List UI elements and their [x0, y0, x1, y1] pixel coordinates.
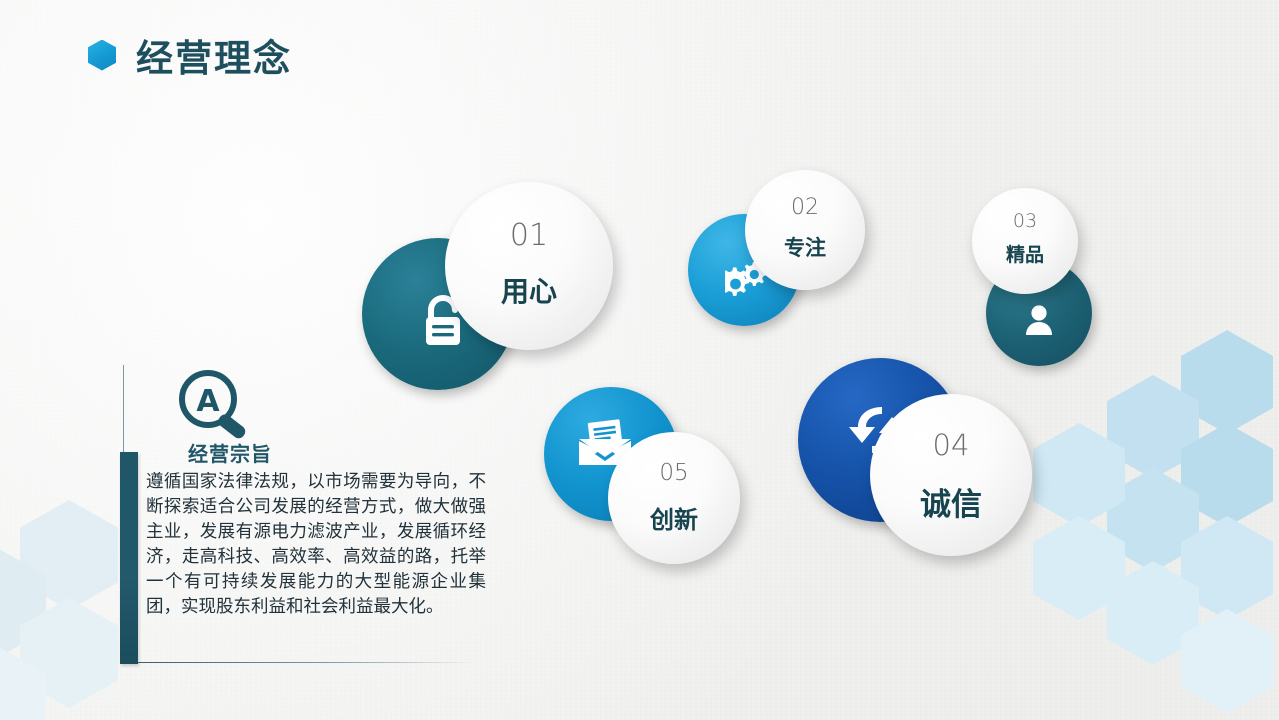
hexagon-shape [1181, 423, 1273, 527]
item-label-circle-01[interactable]: 01 用心 [445, 182, 613, 350]
hexagon-shape [1107, 561, 1199, 665]
svg-text:A: A [196, 384, 220, 419]
item-group-02[interactable]: 02 专注 [688, 170, 868, 330]
hexagon-shape [1107, 468, 1199, 572]
vertical-thin-rule [123, 365, 124, 460]
item-label-02: 专注 [745, 232, 865, 262]
item-label-04: 诚信 [870, 479, 1032, 524]
hexagon-shape [1181, 516, 1273, 620]
item-label-03: 精品 [972, 240, 1078, 267]
hexagon-shape [0, 646, 46, 720]
item-number-03: 03 [972, 210, 1078, 232]
item-label-01: 用心 [445, 270, 613, 310]
item-number-04: 04 [870, 428, 1032, 462]
hexagon-decoration-right [1059, 320, 1279, 720]
hexagon-icon [88, 40, 116, 71]
item-group-05[interactable]: 05 创新 [544, 387, 744, 567]
item-number-01: 01 [445, 218, 613, 253]
hexagon-shape [1181, 609, 1273, 713]
purpose-body-text: 遵循国家法律法规，以市场需要为导向，不断探索适合公司发展的经营方式，做大做强主业… [146, 470, 486, 620]
hexagon-shape [1033, 516, 1125, 620]
page-title: 经营理念 [136, 28, 292, 82]
magnifier-a-icon: A [172, 368, 262, 445]
vertical-accent-bar [120, 452, 138, 664]
hexagon-shape [0, 548, 46, 658]
item-label-circle-03[interactable]: 03 精品 [972, 188, 1078, 294]
item-label-circle-04[interactable]: 04 诚信 [870, 394, 1032, 556]
item-label-05: 创新 [608, 500, 740, 535]
hexagon-shape [20, 598, 118, 708]
item-label-circle-05[interactable]: 05 创新 [608, 432, 740, 564]
slide-canvas: 经营理念 A 经营宗旨 遵循国家法律法规，以市场需要为导向，不断探索适合公司发展… [0, 0, 1279, 720]
hexagon-shape [20, 500, 118, 610]
page-header: 经营理念 [88, 28, 292, 82]
hexagon-shape [1033, 423, 1125, 527]
hexagon-shape [1107, 375, 1199, 479]
item-group-04[interactable]: 04 诚信 [798, 358, 1033, 558]
item-number-02: 02 [745, 195, 865, 220]
item-group-01[interactable]: 01 用心 [362, 182, 622, 407]
item-label-circle-02[interactable]: 02 专注 [745, 170, 865, 290]
purpose-title: 经营宗旨 [170, 438, 290, 467]
item-group-03[interactable]: 03 精品 [972, 188, 1097, 366]
hexagon-shape [1181, 330, 1273, 434]
horizontal-rule [138, 662, 476, 663]
item-number-05: 05 [608, 460, 740, 486]
